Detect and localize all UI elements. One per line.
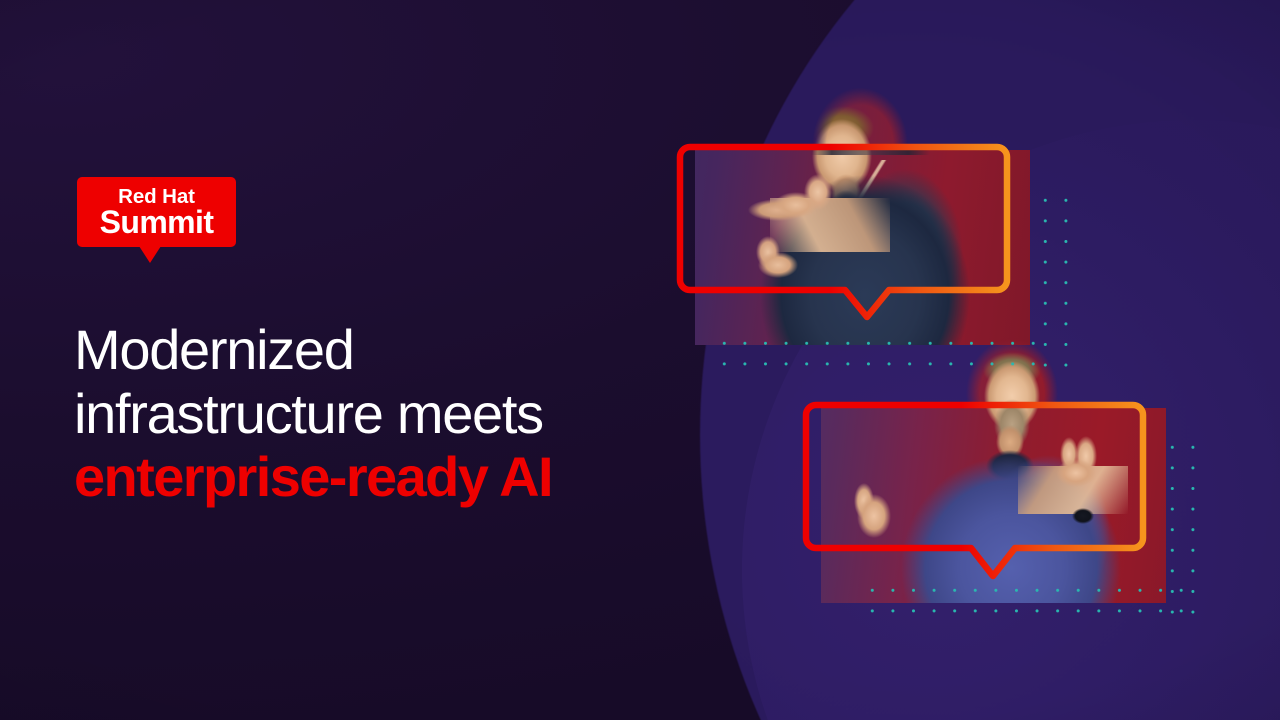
promo-banner: Red Hat Summit Modernized infrastructure…: [0, 0, 1280, 720]
background-vignette: [0, 0, 1280, 720]
